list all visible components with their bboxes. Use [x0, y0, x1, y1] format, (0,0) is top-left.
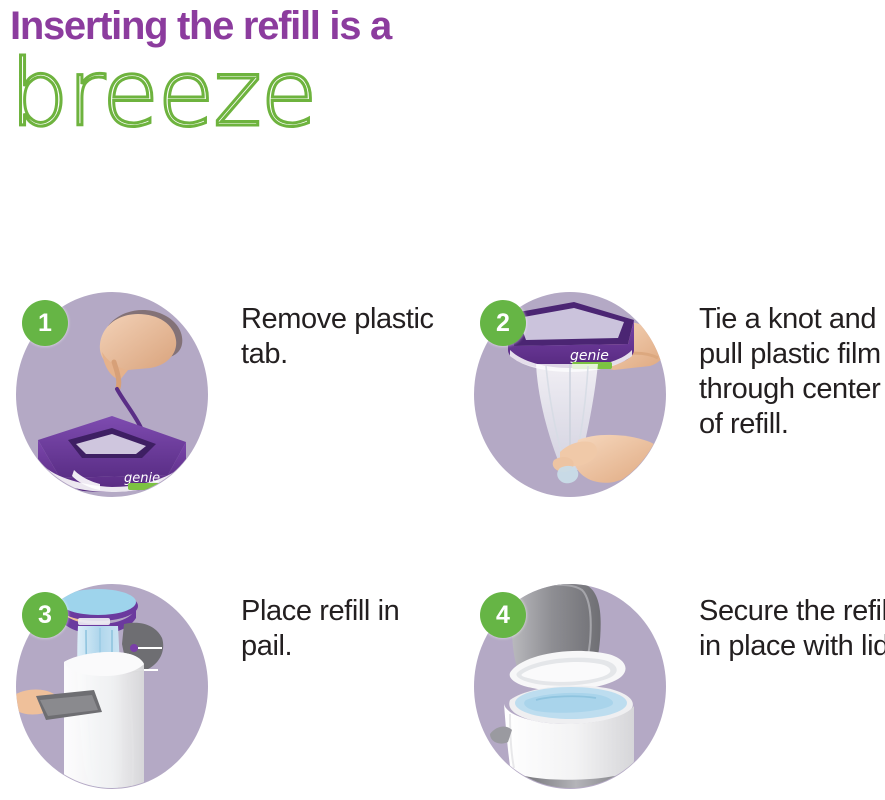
step-2-illustration: genie — [474, 292, 666, 497]
step-item-4: 4 Secure the refill in place with lid. — [466, 580, 885, 800]
infographic-page: Inserting the refill is a breeze — [0, 0, 885, 800]
step-item-1: genie 1 Remove plastic tab. — [8, 288, 450, 544]
step-4-illustration: 4 — [474, 584, 666, 789]
headline-line-2: breeze — [10, 46, 870, 142]
step-caption-1: Remove plastic tab. — [241, 302, 446, 372]
svg-text:genie: genie — [570, 348, 609, 364]
steps-container: genie 1 Remove plastic tab. — [0, 288, 885, 800]
step-3-illustration: 3 — [16, 584, 208, 789]
step-1-illustration: genie 1 — [16, 292, 208, 497]
step-caption-2: Tie a knot and pull plastic film through… — [699, 302, 885, 442]
step-item-3: 3 Place refill in pail. — [8, 580, 450, 800]
page-title: Inserting the refill is a breeze — [10, 2, 870, 142]
step-badge-2: 2 — [480, 300, 526, 346]
step-badge-3: 3 — [22, 592, 68, 638]
step-item-2: genie — [466, 288, 885, 544]
step-caption-3: Place refill in pail. — [241, 594, 446, 664]
step-badge-4: 4 — [480, 592, 526, 638]
step-badge-1: 1 — [22, 300, 68, 346]
step-caption-4: Secure the refill in place with lid. — [699, 594, 885, 664]
